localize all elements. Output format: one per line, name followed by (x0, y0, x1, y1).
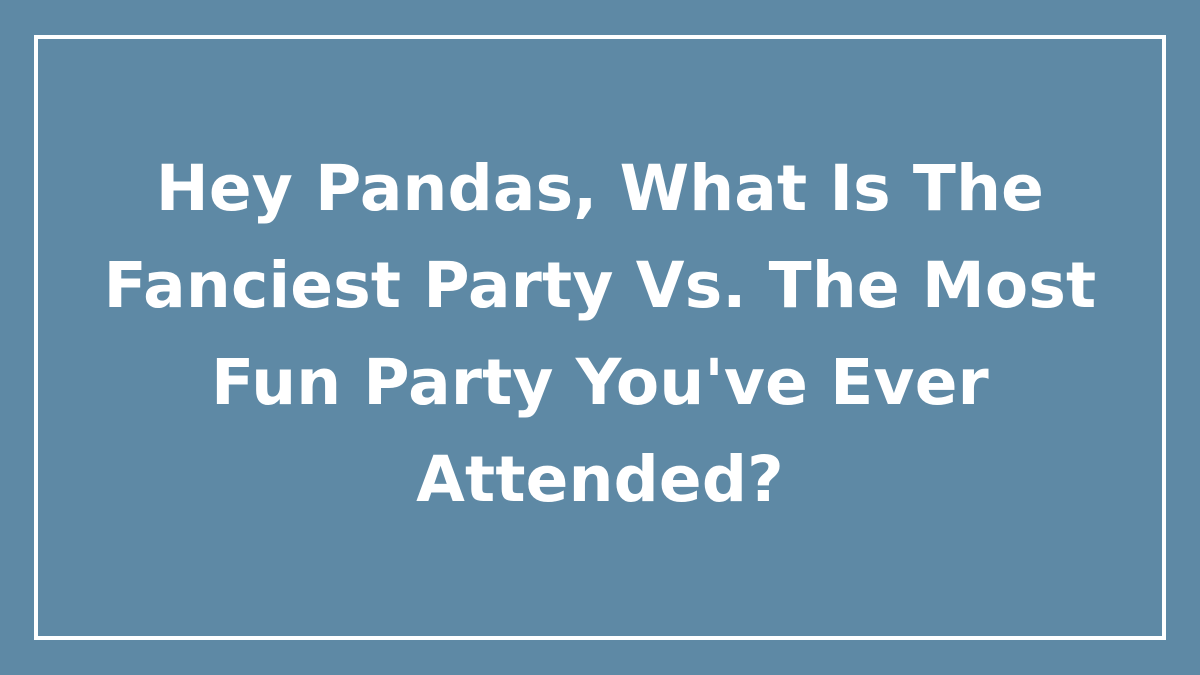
headline-line-2: Fanciest Party Vs. The Most (104, 237, 1097, 334)
headline-line-1: Hey Pandas, What Is The (104, 140, 1097, 237)
page-title: Hey Pandas, What Is The Fanciest Party V… (104, 140, 1097, 528)
title-card: Hey Pandas, What Is The Fanciest Party V… (0, 0, 1200, 675)
headline-container: Hey Pandas, What Is The Fanciest Party V… (34, 35, 1166, 640)
headline-line-4: Attended? (104, 431, 1097, 528)
headline-line-3: Fun Party You've Ever (104, 334, 1097, 431)
